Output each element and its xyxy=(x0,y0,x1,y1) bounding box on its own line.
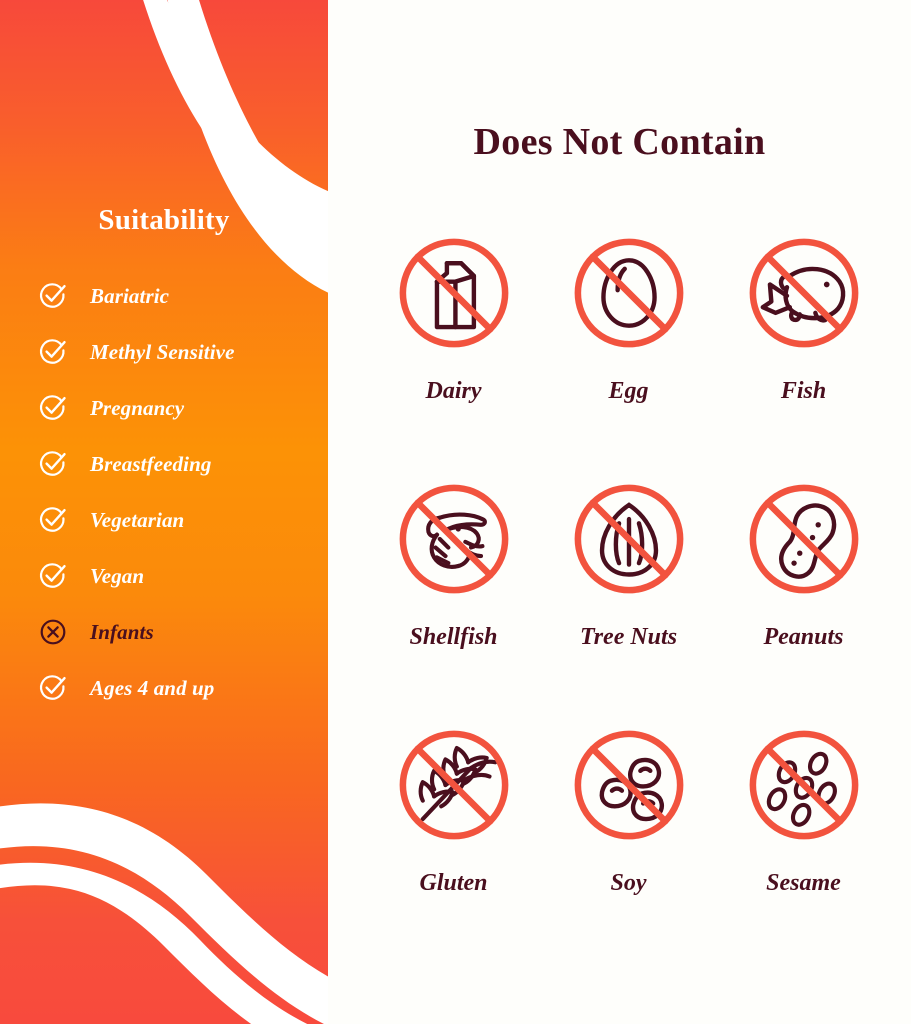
wheat-icon xyxy=(383,714,525,856)
egg-icon xyxy=(558,222,700,364)
almond-icon xyxy=(558,468,700,610)
allergen-label: Peanuts xyxy=(763,624,843,651)
suitability-item-label: Ages 4 and up xyxy=(90,676,214,701)
suitability-item-label: Vegetarian xyxy=(90,508,184,533)
check-circle-icon xyxy=(38,673,68,703)
allergen-label: Egg xyxy=(608,378,648,405)
allergen-item-soy: Soy xyxy=(541,714,716,960)
allergen-label: Soy xyxy=(611,870,647,897)
suitability-item-label: Bariatric xyxy=(90,284,169,309)
allergen-label: Gluten xyxy=(419,870,487,897)
allergen-item-egg: Egg xyxy=(541,222,716,468)
check-circle-icon xyxy=(38,281,68,311)
allergen-label: Sesame xyxy=(766,870,841,897)
suitability-item-label: Infants xyxy=(90,620,154,645)
suitability-item-vegetarian: Vegetarian xyxy=(38,492,328,548)
peanut-icon xyxy=(733,468,875,610)
check-circle-icon xyxy=(38,449,68,479)
check-circle-icon xyxy=(38,505,68,535)
allergen-label: Dairy xyxy=(426,378,482,405)
does-not-contain-panel: Does Not Contain D xyxy=(328,0,911,1024)
suitability-item-bariatric: Bariatric xyxy=(38,268,328,324)
suitability-item-methyl-sensitive: Methyl Sensitive xyxy=(38,324,328,380)
allergen-label: Fish xyxy=(781,378,826,405)
check-circle-icon xyxy=(38,337,68,367)
suitability-item-infants: Infants xyxy=(38,604,328,660)
allergen-item-fish: Fish xyxy=(716,222,891,468)
allergen-item-sesame: Sesame xyxy=(716,714,891,960)
suitability-item-label: Methyl Sensitive xyxy=(90,340,235,365)
suitability-item-label: Breastfeeding xyxy=(90,452,211,477)
suitability-item-ages-4-and-up: Ages 4 and up xyxy=(38,660,328,716)
sesame-seeds-icon xyxy=(733,714,875,856)
allergen-grid: Dairy Egg xyxy=(366,222,891,960)
allergen-suitability-panel: Suitability Bariatric Methyl xyxy=(0,0,911,1024)
suitability-item-label: Pregnancy xyxy=(90,396,184,421)
suitability-panel: Suitability Bariatric Methyl xyxy=(0,0,328,1024)
x-circle-icon xyxy=(38,617,68,647)
suitability-list: Bariatric Methyl Sensitive P xyxy=(38,268,328,716)
check-circle-icon xyxy=(38,393,68,423)
shrimp-icon xyxy=(383,468,525,610)
suitability-item-pregnancy: Pregnancy xyxy=(38,380,328,436)
page-title: Does Not Contain xyxy=(328,120,911,164)
suitability-item-vegan: Vegan xyxy=(38,548,328,604)
allergen-item-peanuts: Peanuts xyxy=(716,468,891,714)
allergen-item-dairy: Dairy xyxy=(366,222,541,468)
suitability-item-breastfeeding: Breastfeeding xyxy=(38,436,328,492)
soybean-icon xyxy=(558,714,700,856)
allergen-label: Tree Nuts xyxy=(580,624,677,651)
sidebar-title: Suitability xyxy=(0,204,328,237)
allergen-item-tree-nuts: Tree Nuts xyxy=(541,468,716,714)
allergen-item-shellfish: Shellfish xyxy=(366,468,541,714)
check-circle-icon xyxy=(38,561,68,591)
fish-icon xyxy=(733,222,875,364)
suitability-item-label: Vegan xyxy=(90,564,144,589)
allergen-item-gluten: Gluten xyxy=(366,714,541,960)
allergen-label: Shellfish xyxy=(409,624,497,651)
milk-carton-icon xyxy=(383,222,525,364)
